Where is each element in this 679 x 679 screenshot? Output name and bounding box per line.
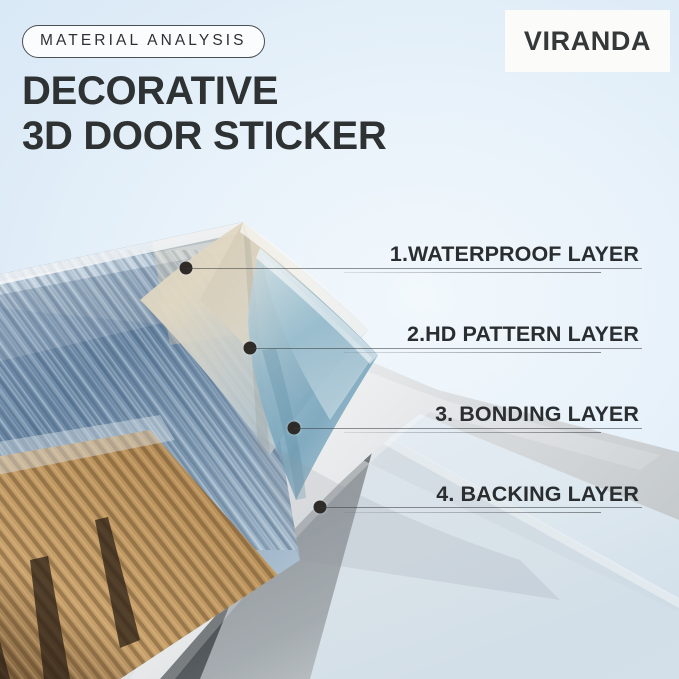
brand-logo-box: VIRANDA (505, 10, 670, 72)
callout-leader-waterproof (186, 268, 642, 269)
callout-label-backing: 4. BACKING LAYER (436, 482, 639, 507)
callout-leader-hd-pattern (250, 348, 642, 349)
callout-rule-bonding (344, 432, 601, 433)
callout-label-waterproof: 1.WATERPROOF LAYER (390, 242, 639, 267)
infographic-canvas: MATERIAL ANALYSIS DECORATIVE 3D DOOR STI… (0, 0, 679, 679)
callout-rule-backing (344, 512, 601, 513)
title-line-2: 3D DOOR STICKER (22, 114, 386, 159)
callout-label-bonding: 3. BONDING LAYER (435, 402, 639, 427)
page-title: DECORATIVE 3D DOOR STICKER (22, 69, 386, 159)
callout-label-hd-pattern: 2.HD PATTERN LAYER (407, 322, 639, 347)
brand-name: VIRANDA (524, 26, 651, 57)
callout-leader-bonding (294, 428, 642, 429)
callout-rule-waterproof (344, 272, 601, 273)
callout-rule-hd-pattern (344, 352, 601, 353)
badge-material-analysis: MATERIAL ANALYSIS (22, 25, 265, 58)
title-line-1: DECORATIVE (22, 69, 278, 113)
callout-leader-backing (320, 507, 642, 508)
